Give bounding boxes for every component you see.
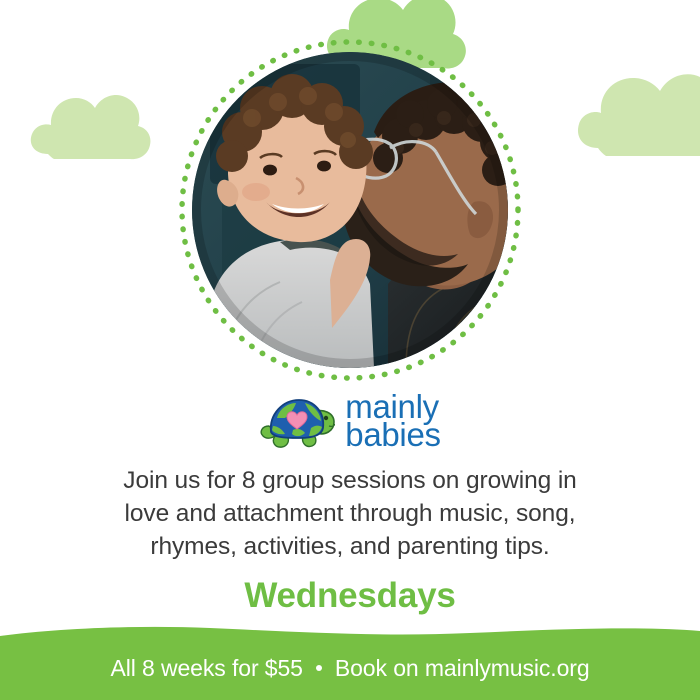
logo-line-2: babies [345,421,440,449]
footer-booking-text: Book on mainlymusic.org [335,655,590,682]
description-line-3: rhymes, activities, and parenting tips. [50,531,650,564]
photo-image [192,52,508,368]
bullet-separator-icon [316,665,322,671]
footer-price-text: All 8 weeks for $55 [110,655,302,682]
hero-photo [178,38,522,382]
turtle-icon [259,392,335,450]
brand-logo: mainly babies [0,392,700,450]
footer-band: All 8 weeks for $55 Book on mainlymusic.… [0,622,700,700]
logo-wordmark: mainly babies [345,393,440,448]
description-line-2: love and attachment through music, song, [50,498,650,531]
cloud-left-icon [24,72,152,168]
poster-canvas: mainly babies Join us for 8 group sessio… [0,0,700,700]
description-text: Join us for 8 group sessions on growing … [50,465,650,563]
session-day-heading: Wednesdays [0,576,700,616]
cloud-right-icon [572,40,700,166]
footer-content: All 8 weeks for $55 Book on mainlymusic.… [0,622,700,700]
description-line-1: Join us for 8 group sessions on growing … [50,465,650,498]
